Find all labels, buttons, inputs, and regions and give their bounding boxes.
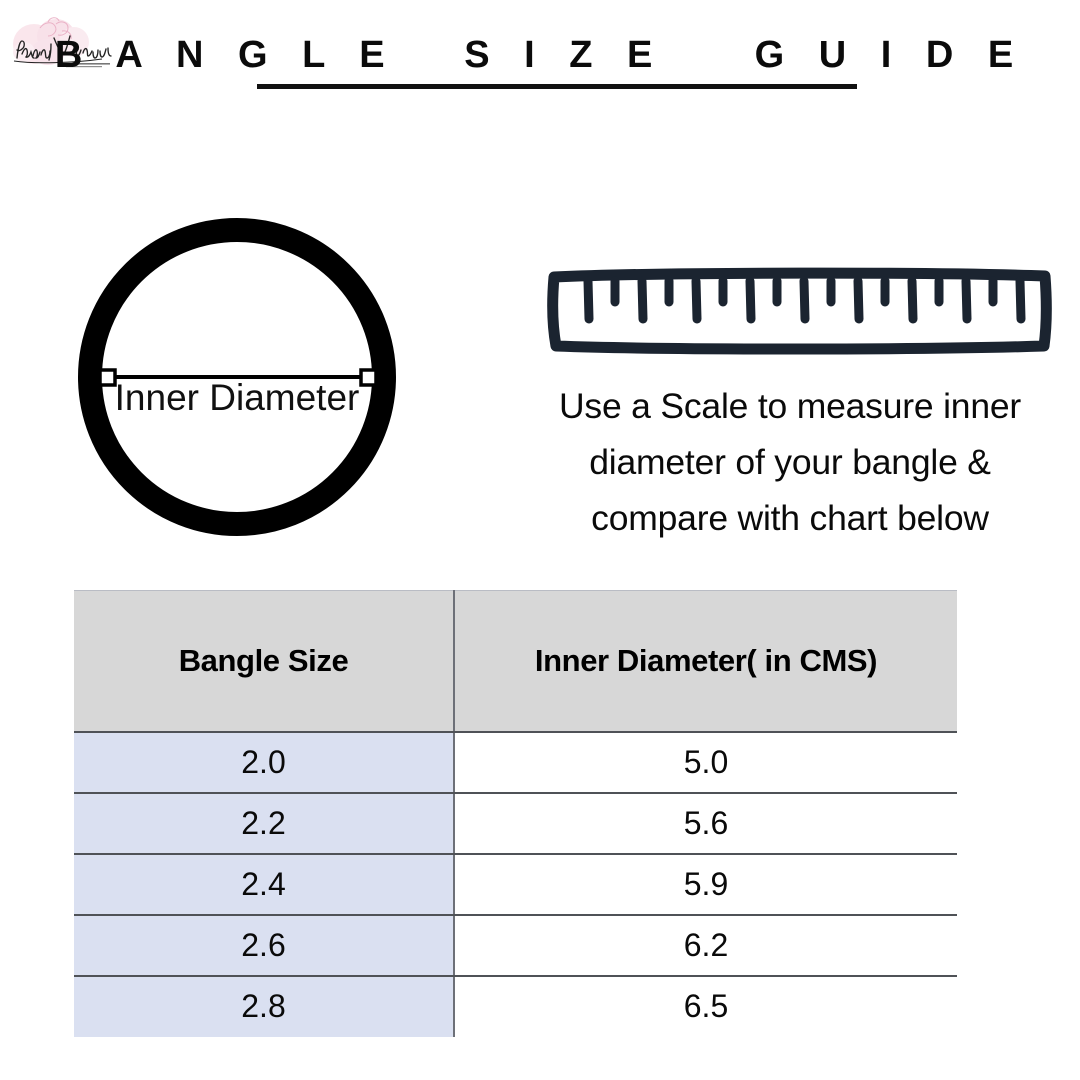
instruction-line-2: diameter of your bangle & [500,434,1080,490]
bangle-diagram: Inner Diameter [56,190,426,560]
table-row: 2.2 5.6 [74,793,957,854]
column-header-inner-diameter: Inner Diameter( in CMS) [454,591,957,732]
inner-diameter-label: Inner Diameter [115,377,360,418]
table-row: 2.0 5.0 [74,732,957,793]
instruction-line-1: Use a Scale to measure inner [500,378,1080,434]
cell-bangle-size: 2.6 [74,915,454,976]
ruler-ticks [588,281,1021,319]
cell-inner-diameter: 6.2 [454,915,957,976]
page-title-container: B A N G L E S I Z E G U I D E [0,34,1080,86]
ruler-icon [545,262,1055,357]
instruction-line-3: compare with chart below [500,490,1080,546]
instruction-text: Use a Scale to measure inner diameter of… [500,378,1080,546]
bangle-size-table: Bangle Size Inner Diameter( in CMS) 2.0 … [74,590,957,1037]
cell-bangle-size: 2.4 [74,854,454,915]
cell-bangle-size: 2.8 [74,976,454,1037]
cell-inner-diameter: 5.6 [454,793,957,854]
cell-inner-diameter: 5.9 [454,854,957,915]
cell-bangle-size: 2.2 [74,793,454,854]
table-row: 2.6 6.2 [74,915,957,976]
square-handle-icon-right [361,370,376,385]
square-handle-icon-left [100,370,115,385]
cell-inner-diameter: 6.5 [454,976,957,1037]
ruler-body [553,273,1047,349]
cell-bangle-size: 2.0 [74,732,454,793]
page-title: B A N G L E S I Z E G U I D E [47,34,1033,86]
cell-inner-diameter: 5.0 [454,732,957,793]
table-body: 2.0 5.0 2.2 5.6 2.4 5.9 2.6 6.2 2.8 6.5 [74,732,957,1037]
table-header-row: Bangle Size Inner Diameter( in CMS) [74,591,957,732]
ruler-illustration [545,262,1055,357]
column-header-bangle-size: Bangle Size [74,591,454,732]
table-header: Bangle Size Inner Diameter( in CMS) [74,591,957,732]
table-row: 2.8 6.5 [74,976,957,1037]
title-underline-divider [257,84,857,89]
table-row: 2.4 5.9 [74,854,957,915]
